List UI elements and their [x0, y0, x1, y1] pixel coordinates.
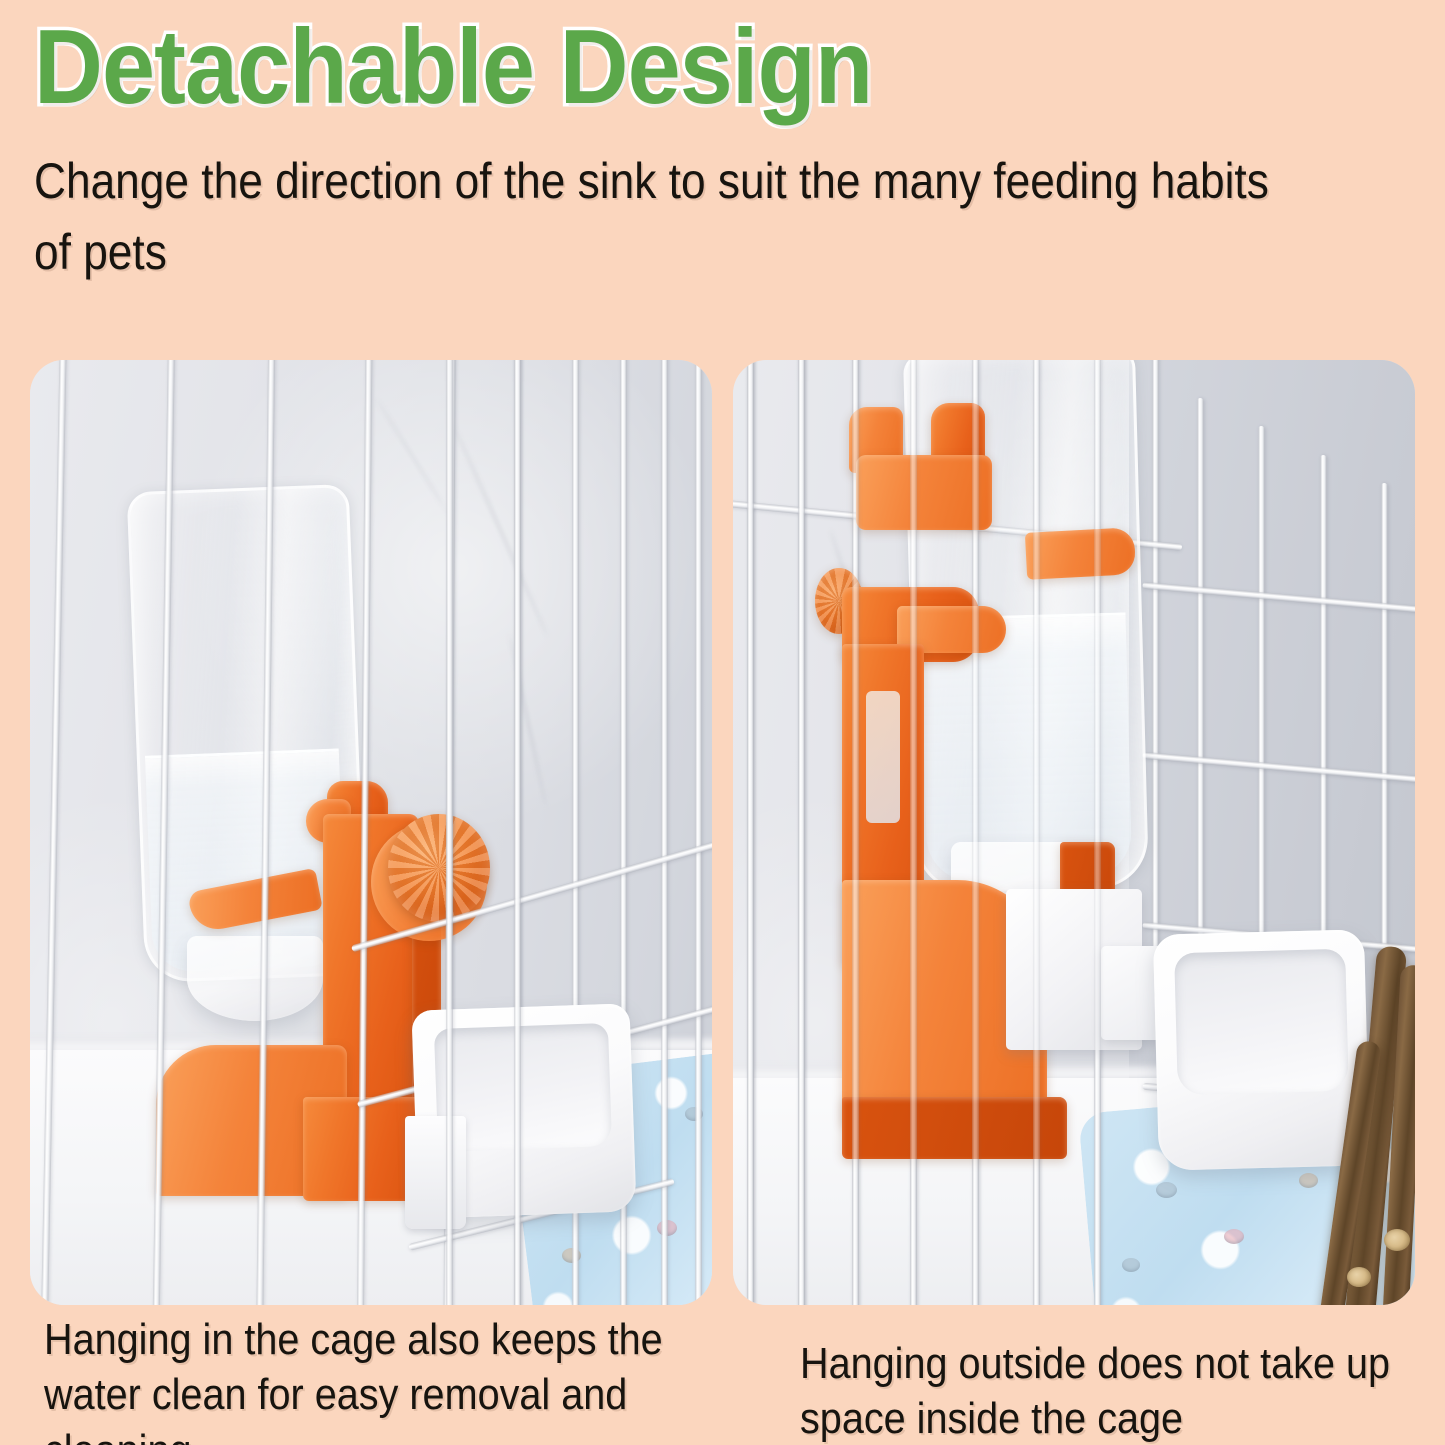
- cage-wire-vertical-front: [747, 360, 754, 1305]
- food-bowl-interior: [1174, 948, 1348, 1094]
- wood-stick-end: [1347, 1267, 1371, 1287]
- bracket-side-wing: [1025, 527, 1136, 580]
- product-photo-outside-cage: [733, 360, 1415, 1305]
- cage-wire-vertical-front: [852, 360, 859, 1305]
- cage-wire-vertical-front: [910, 360, 917, 1305]
- caption-left: Hanging in the cage also keeps the water…: [44, 1312, 755, 1445]
- page-title: Detachable Design: [34, 14, 1267, 120]
- cage-wire-side-horizontal: [1143, 582, 1415, 618]
- cage-wire-vertical: [255, 360, 275, 1305]
- cage-wire-vertical-front: [798, 360, 805, 1305]
- cage-wire-vertical: [695, 360, 702, 1305]
- food-bowl-bracket: [405, 1116, 466, 1229]
- photo-panel-left: [30, 360, 712, 1305]
- cage-wire-vertical-front: [972, 360, 979, 1305]
- cage-wire-vertical: [1152, 360, 1159, 1003]
- cage-wire-vertical-front: [1033, 360, 1040, 1305]
- cage-wire-vertical: [661, 360, 668, 1305]
- caption-right: Hanging outside does not take up space i…: [800, 1336, 1445, 1445]
- cage-wire-horizontal: [351, 833, 712, 953]
- product-photo-inside-cage: [30, 360, 712, 1305]
- cage-wire-vertical: [356, 360, 372, 1305]
- cage-wire-vertical: [151, 360, 175, 1305]
- cage-wire-vertical-front: [1094, 360, 1101, 1305]
- header: Detachable Design Change the direction o…: [34, 14, 1404, 288]
- cage-wire-vertical-front: [514, 360, 521, 1305]
- page-subtitle: Change the direction of the sink to suit…: [34, 146, 1317, 288]
- photo-panel-right: [733, 360, 1415, 1305]
- cage-wire-side-horizontal: [1143, 752, 1415, 788]
- cage-wire-vertical: [40, 360, 67, 1305]
- cage-wire-vertical-front: [446, 360, 453, 1305]
- bracket-plate-cutout: [866, 691, 900, 823]
